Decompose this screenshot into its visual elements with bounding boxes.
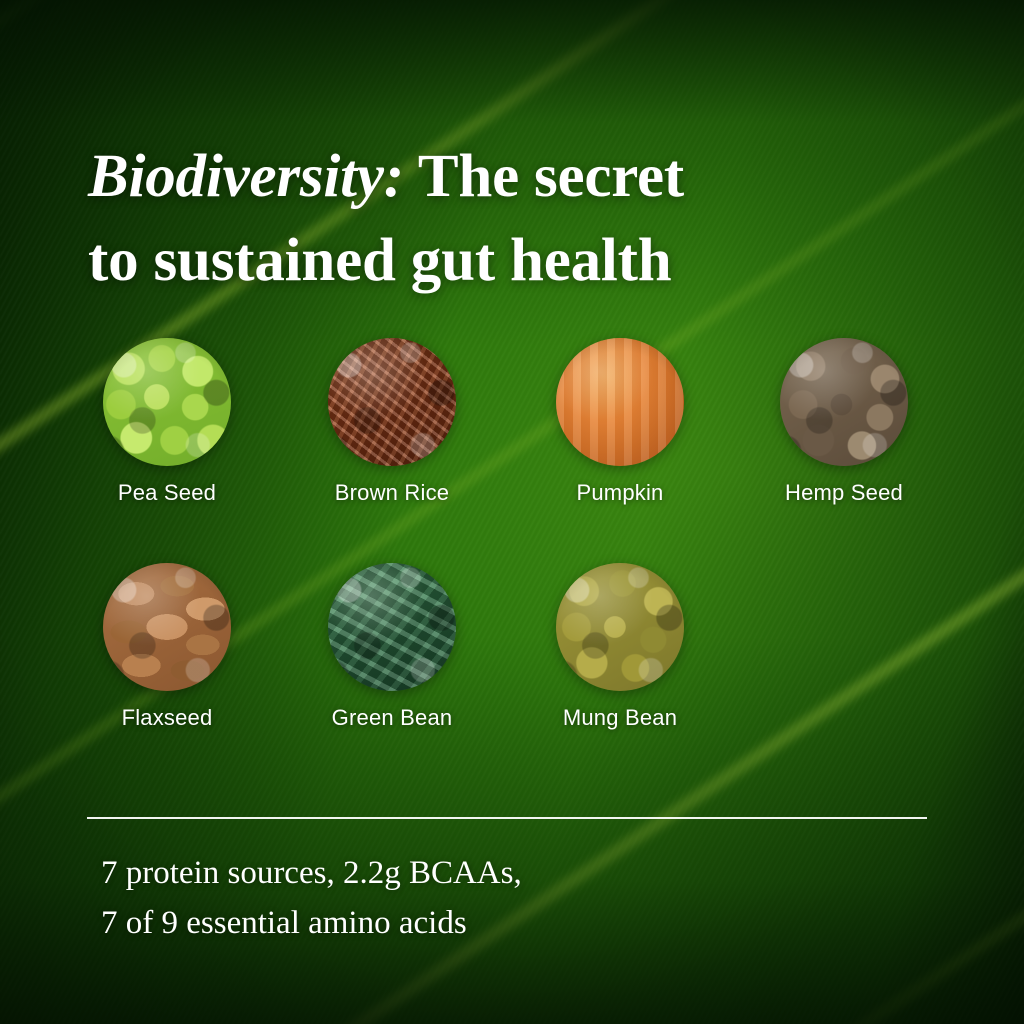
ingredient-item-flaxseed[interactable]: Flaxseed bbox=[87, 563, 247, 731]
ingredient-image-brown-rice bbox=[328, 338, 456, 466]
page-title: Biodiversity: The secretto sustained gut… bbox=[88, 135, 968, 303]
texture-sheen-overlay bbox=[328, 338, 456, 466]
ingredient-item-brown-rice[interactable]: Brown Rice bbox=[312, 338, 472, 506]
ingredient-label: Hemp Seed bbox=[764, 480, 924, 506]
card-content: Biodiversity: The secretto sustained gut… bbox=[0, 0, 1024, 1024]
promo-card: Biodiversity: The secretto sustained gut… bbox=[0, 0, 1024, 1024]
ingredient-label: Pumpkin bbox=[540, 480, 700, 506]
ingredient-image-flaxseed bbox=[103, 563, 231, 691]
ingredient-item-mung-bean[interactable]: Mung Bean bbox=[540, 563, 700, 731]
texture-sheen-overlay bbox=[103, 563, 231, 691]
ingredient-label: Green Bean bbox=[312, 705, 472, 731]
title-line-2: to sustained gut health bbox=[88, 227, 671, 294]
ingredient-item-pea-seed[interactable]: Pea Seed bbox=[87, 338, 247, 506]
title-rest: The secret bbox=[404, 143, 684, 210]
texture-sheen-overlay bbox=[328, 563, 456, 691]
texture-sheen-overlay bbox=[556, 563, 684, 691]
ingredient-image-pea-seed bbox=[103, 338, 231, 466]
ingredient-image-green-bean bbox=[328, 563, 456, 691]
ingredient-image-hemp-seed bbox=[780, 338, 908, 466]
texture-sheen-overlay bbox=[780, 338, 908, 466]
ingredient-label: Brown Rice bbox=[312, 480, 472, 506]
horizontal-divider bbox=[87, 817, 927, 819]
ingredient-label: Mung Bean bbox=[540, 705, 700, 731]
texture-sheen-overlay bbox=[556, 338, 684, 466]
ingredient-item-green-bean[interactable]: Green Bean bbox=[312, 563, 472, 731]
ingredient-label: Pea Seed bbox=[87, 480, 247, 506]
texture-sheen-overlay bbox=[103, 338, 231, 466]
ingredient-image-pumpkin bbox=[556, 338, 684, 466]
nutrition-summary-line-1: 7 protein sources, 2.2g BCAAs, bbox=[101, 848, 961, 898]
ingredient-label: Flaxseed bbox=[87, 705, 247, 731]
ingredient-item-hemp-seed[interactable]: Hemp Seed bbox=[764, 338, 924, 506]
ingredient-item-pumpkin[interactable]: Pumpkin bbox=[540, 338, 700, 506]
ingredient-image-mung-bean bbox=[556, 563, 684, 691]
nutrition-summary: 7 protein sources, 2.2g BCAAs, 7 of 9 es… bbox=[101, 848, 961, 948]
title-emphasis: Biodiversity: bbox=[88, 143, 404, 210]
nutrition-summary-line-2: 7 of 9 essential amino acids bbox=[101, 898, 961, 948]
